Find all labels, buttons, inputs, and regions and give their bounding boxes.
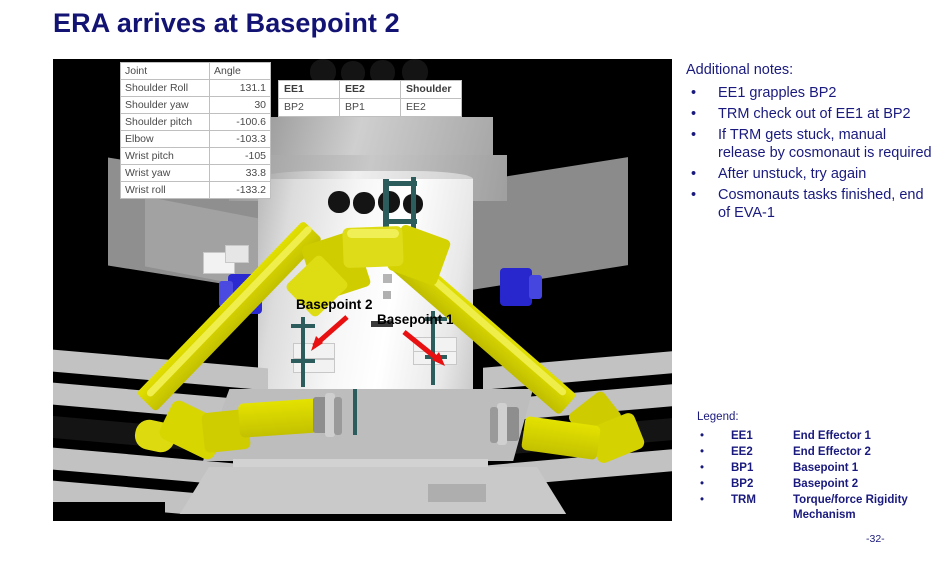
list-item: • If TRM gets stuck, manual release by c… (686, 126, 936, 162)
legend-code: BP2 (731, 477, 793, 492)
joint-angle: -105 (210, 148, 271, 165)
list-item: • After unstuck, try again (686, 165, 936, 183)
callout-basepoint-2: Basepoint 2 (296, 297, 373, 312)
legend-heading: Legend: (697, 410, 932, 425)
handrail (353, 389, 357, 435)
legend-code: TRM (731, 493, 793, 508)
note-text: Cosmonauts tasks finished, end of EVA-1 (718, 186, 936, 222)
legend-code: BP1 (731, 461, 793, 476)
joint-angle-table: Joint Angle Shoulder Roll 131.1 Shoulder… (120, 62, 271, 199)
arrow-to-basepoint-1-icon (398, 328, 460, 378)
list-item: • TRM check out of EE1 at BP2 (686, 105, 936, 123)
additional-notes-panel: Additional notes: • EE1 grapples BP2 • T… (686, 61, 936, 225)
legend-description: Basepoint 1 (793, 461, 932, 476)
col-header-joint: Joint (121, 63, 210, 80)
table-header-row: EE1 EE2 Shoulder (279, 81, 462, 99)
radiator-block (428, 484, 486, 502)
thruster-icon (328, 191, 350, 213)
arrow-to-basepoint-2-icon (297, 313, 357, 363)
table-row: Elbow -103.3 (121, 131, 271, 148)
blue-tank-right (500, 268, 532, 306)
handrail (385, 219, 417, 224)
bullet-icon: • (697, 493, 731, 508)
table-header-row: Joint Angle (121, 63, 271, 80)
bullet-icon: • (686, 105, 718, 123)
joint-angle: -103.3 (210, 131, 271, 148)
legend-description: Torque/force Rigidity Mechanism (793, 493, 932, 523)
table-row: Shoulder pitch -100.6 (121, 114, 271, 131)
table-row: Wrist roll -133.2 (121, 182, 271, 199)
joint-name: Elbow (121, 131, 210, 148)
end-effector-right-collar (497, 403, 507, 445)
col-header-angle: Angle (210, 63, 271, 80)
list-item: • EE1 End Effector 1 (697, 429, 932, 444)
joint-angle: 131.1 (210, 80, 271, 97)
table-row: Shoulder yaw 30 (121, 97, 271, 114)
callout-basepoint-1: Basepoint 1 (377, 312, 454, 327)
shoulder-value: EE2 (401, 99, 462, 117)
end-effector-status-table: EE1 EE2 Shoulder BP2 BP1 EE2 (278, 80, 462, 117)
list-item: • TRM Torque/force Rigidity Mechanism (697, 493, 932, 523)
note-text: EE1 grapples BP2 (718, 84, 936, 102)
legend-code: EE2 (731, 445, 793, 460)
joint-angle: -133.2 (210, 182, 271, 199)
page-title: ERA arrives at Basepoint 2 (53, 8, 400, 39)
legend-code: EE1 (731, 429, 793, 444)
arm-elbow-apex-highlight (347, 229, 399, 238)
radiator-array-lower (173, 467, 573, 521)
page-number: -32- (866, 533, 885, 545)
table-row: Wrist yaw 33.8 (121, 165, 271, 182)
note-text: TRM check out of EE1 at BP2 (718, 105, 936, 123)
basepoint-1-fixture (490, 407, 498, 443)
legend-panel: Legend: • EE1 End Effector 1 • EE2 End E… (697, 410, 932, 524)
note-text: After unstuck, try again (718, 165, 936, 183)
bullet-icon: • (686, 186, 718, 204)
handrail (385, 181, 417, 186)
list-item: • Cosmonauts tasks finished, end of EVA-… (686, 186, 936, 222)
legend-description: End Effector 2 (793, 445, 932, 460)
joint-name: Shoulder Roll (121, 80, 210, 97)
joint-name: Wrist yaw (121, 165, 210, 182)
joint-name: Shoulder yaw (121, 97, 210, 114)
table-row: Wrist pitch -105 (121, 148, 271, 165)
joint-angle: 30 (210, 97, 271, 114)
joint-name: Shoulder pitch (121, 114, 210, 131)
ee2-value: BP1 (340, 99, 401, 117)
hull-fitting (383, 291, 391, 299)
list-item: • BP2 Basepoint 2 (697, 477, 932, 492)
arm-wrist-left-boom (238, 398, 322, 438)
bullet-icon: • (686, 126, 718, 144)
bullet-icon: • (686, 84, 718, 102)
end-effector-right (505, 407, 519, 441)
col-header-ee1: EE1 (279, 81, 340, 99)
list-item: • BP1 Basepoint 1 (697, 461, 932, 476)
legend-description: Basepoint 2 (793, 477, 932, 492)
bullet-icon: • (697, 429, 731, 444)
ee1-value: BP2 (279, 99, 340, 117)
basepoint-2-fixture (334, 397, 342, 435)
joint-name: Wrist pitch (121, 148, 210, 165)
bullet-icon: • (697, 445, 731, 460)
note-text: If TRM gets stuck, manual release by cos… (718, 126, 936, 162)
thruster-icon (378, 191, 400, 213)
col-header-shoulder: Shoulder (401, 81, 462, 99)
legend-description: End Effector 1 (793, 429, 932, 444)
col-header-ee2: EE2 (340, 81, 401, 99)
hull-fitting (383, 274, 392, 283)
thruster-icon (353, 192, 375, 214)
joint-angle: 33.8 (210, 165, 271, 182)
hull-box (225, 245, 249, 263)
joint-angle: -100.6 (210, 114, 271, 131)
bullet-icon: • (686, 165, 718, 183)
notes-heading: Additional notes: (686, 61, 936, 79)
bullet-icon: • (697, 477, 731, 492)
table-row: BP2 BP1 EE2 (279, 99, 462, 117)
slide-root: ERA arrives at Basepoint 2 (0, 0, 937, 574)
list-item: • EE2 End Effector 2 (697, 445, 932, 460)
joint-name: Wrist roll (121, 182, 210, 199)
blue-tank-right-fitting (529, 275, 542, 299)
space-background (53, 514, 672, 521)
bullet-icon: • (697, 461, 731, 476)
list-item: • EE1 grapples BP2 (686, 84, 936, 102)
table-row: Shoulder Roll 131.1 (121, 80, 271, 97)
